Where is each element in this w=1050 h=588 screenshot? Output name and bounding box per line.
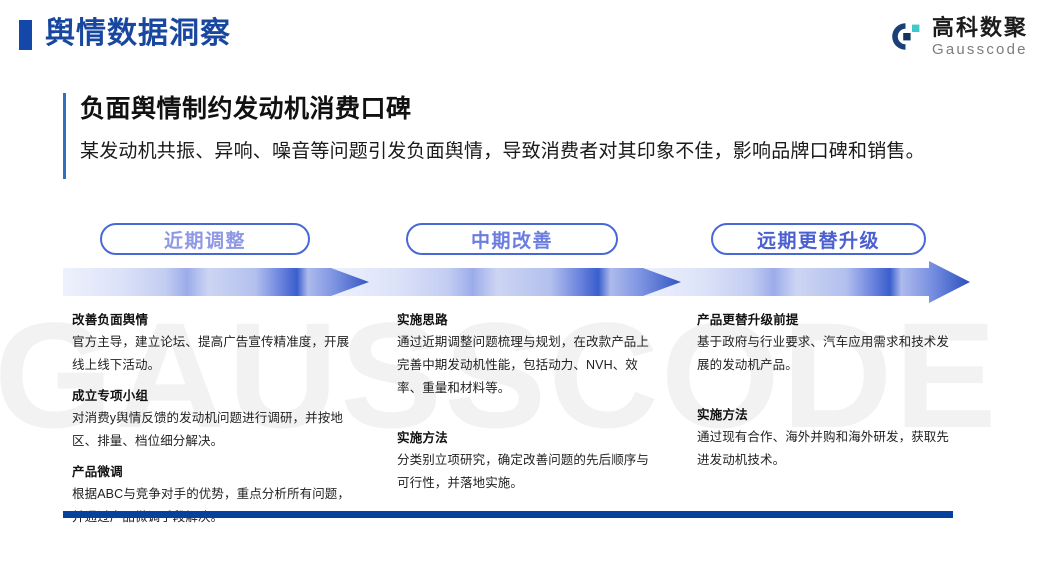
content-block: 实施方法分类别立项研究，确定改善问题的先后顺序与可行性，并落地实施。 [397, 428, 659, 495]
timeline-phase-near-term[interactable]: 近期调整 [100, 223, 310, 255]
content-column-long-term: 产品更替升级前提基于政府与行业要求、汽车应用需求和技术发展的发动机产品。实施方法… [697, 310, 959, 472]
header-title: 舆情数据洞察 [45, 13, 231, 55]
page-title: 负面舆情制约发动机消费口碑 [80, 91, 925, 127]
footer-bar [63, 511, 953, 518]
content-block-heading: 成立专项小组 [72, 386, 354, 406]
title-block: 负面舆情制约发动机消费口碑 某发动机共振、异响、噪音等问题引发负面舆情，导致消费… [63, 91, 925, 166]
brand-logo: 高科数聚 Gausscode [889, 13, 1028, 61]
timeline-arrow-bar [63, 259, 970, 305]
content-block-heading: 产品微调 [72, 462, 354, 482]
slide-root: GAUSSCODE 舆情数据洞察 高科数聚 Gausscode 负面舆情制约发动… [0, 0, 1050, 588]
brand-logo-text: 高科数聚 Gausscode [932, 17, 1028, 57]
content-block: 改善负面舆情官方主导，建立论坛、提高广告宣传精准度，开展线上线下活动。 [72, 310, 354, 377]
page-subtitle: 某发动机共振、异响、噪音等问题引发负面舆情，导致消费者对其印象不佳，影响品牌口碑… [80, 138, 925, 166]
content-block: 产品更替升级前提基于政府与行业要求、汽车应用需求和技术发展的发动机产品。 [697, 310, 959, 377]
content-block-heading: 改善负面舆情 [72, 310, 354, 330]
content-block-heading: 实施方法 [397, 428, 659, 448]
content-block-body: 通过近期调整问题梳理与规划，在改款产品上完善中期发动机性能，包括动力、NVH、效… [397, 331, 659, 400]
timeline-phase-long-term[interactable]: 远期更替升级 [711, 223, 926, 255]
content-block: 成立专项小组对消费y舆情反馈的发动机问题进行调研，并按地区、排量、档位细分解决。 [72, 386, 354, 453]
header-accent-mark-icon [19, 20, 32, 50]
content-block: 实施方法通过现有合作、海外并购和海外研发，获取先进发动机技术。 [697, 405, 959, 472]
content-block-body: 通过现有合作、海外并购和海外研发，获取先进发动机技术。 [697, 426, 959, 472]
gausscode-g-mark-icon [889, 20, 923, 54]
content-block-body: 官方主导，建立论坛、提高广告宣传精准度，开展线上线下活动。 [72, 331, 354, 377]
content-column-mid-term: 实施思路通过近期调整问题梳理与规划，在改款产品上完善中期发动机性能，包括动力、N… [397, 310, 659, 495]
content-block-body: 对消费y舆情反馈的发动机问题进行调研，并按地区、排量、档位细分解决。 [72, 407, 354, 453]
timeline-phase-mid-term[interactable]: 中期改善 [406, 223, 618, 255]
content-block-heading: 实施方法 [697, 405, 959, 425]
brand-name-cn: 高科数聚 [932, 17, 1028, 39]
content-block: 产品微调根据ABC与竞争对手的优势，重点分析所有问题，并通过产品微调手段解决。 [72, 462, 354, 529]
content-block-heading: 实施思路 [397, 310, 659, 330]
content-block-body: 分类别立项研究，确定改善问题的先后顺序与可行性，并落地实施。 [397, 449, 659, 495]
content-column-near-term: 改善负面舆情官方主导，建立论坛、提高广告宣传精准度，开展线上线下活动。成立专项小… [72, 310, 354, 529]
content-block-heading: 产品更替升级前提 [697, 310, 959, 330]
brand-name-en: Gausscode [932, 42, 1028, 57]
content-block-body: 根据ABC与竞争对手的优势，重点分析所有问题，并通过产品微调手段解决。 [72, 483, 354, 529]
title-accent-rule [63, 93, 66, 179]
content-block: 实施思路通过近期调整问题梳理与规划，在改款产品上完善中期发动机性能，包括动力、N… [397, 310, 659, 400]
content-block-body: 基于政府与行业要求、汽车应用需求和技术发展的发动机产品。 [697, 331, 959, 377]
